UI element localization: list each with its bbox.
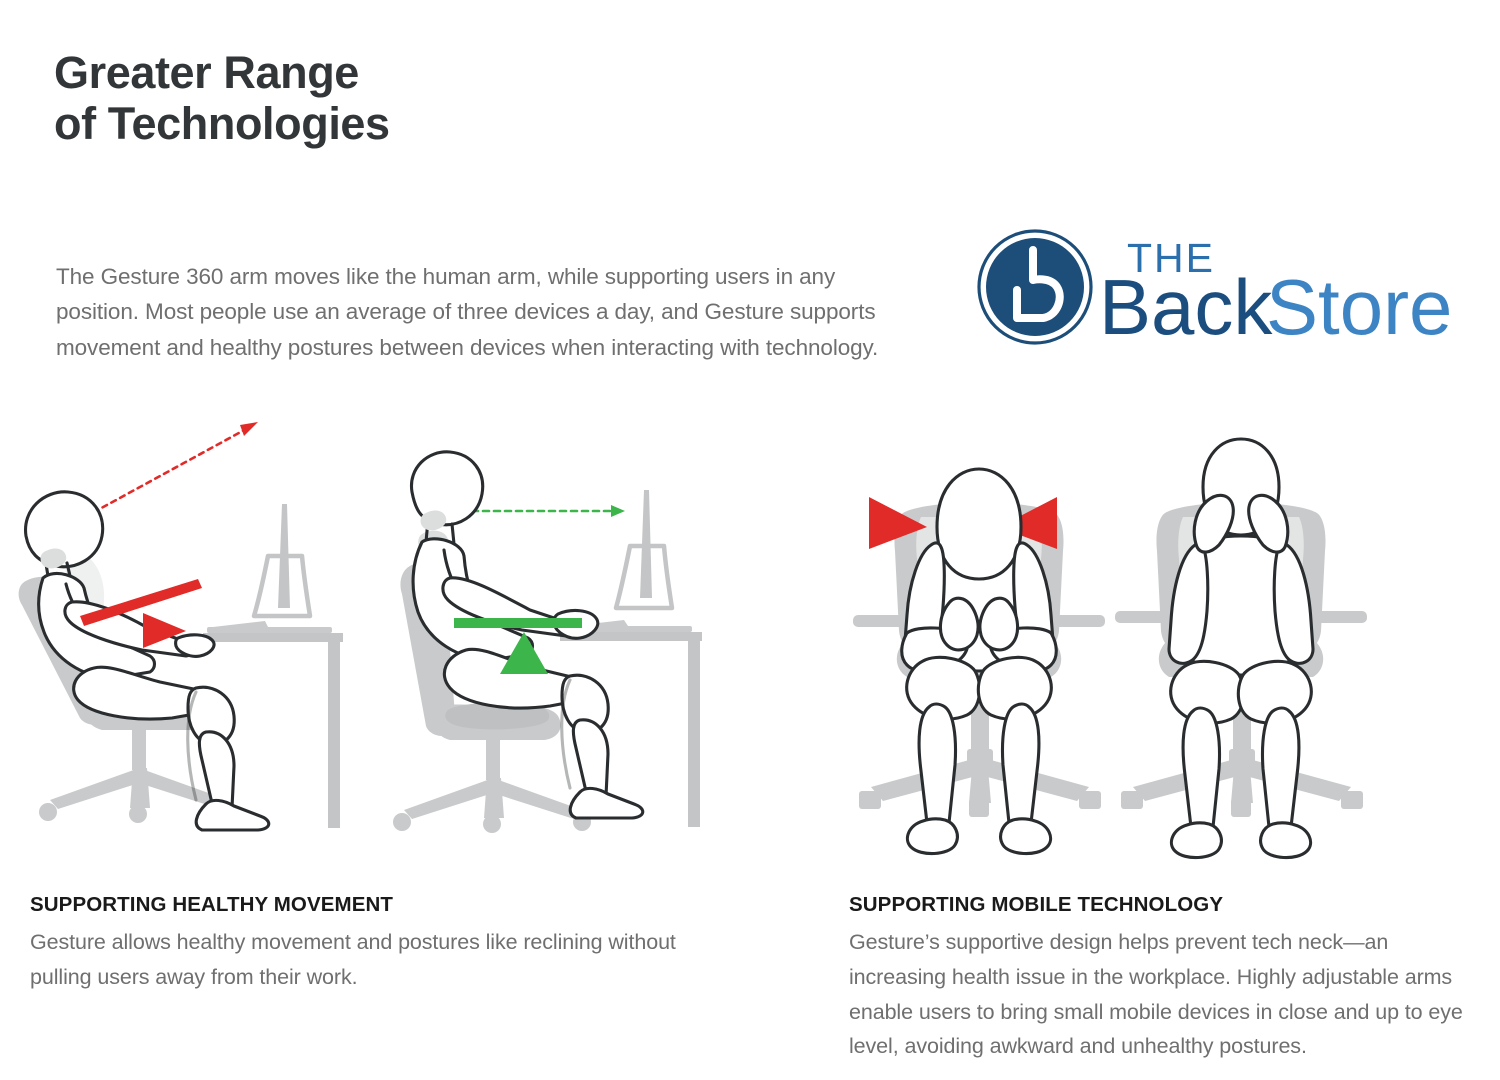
illustration-healthy-movement: .ol { fill:#ffffff; stroke:#2a2d2f; stro… — [10, 400, 720, 865]
figure-tech-neck — [853, 469, 1105, 854]
logo-circle-mark — [979, 231, 1091, 343]
caption-heading-left: SUPPORTING HEALTHY MOVEMENT — [30, 893, 690, 917]
caption-mobile-technology: SUPPORTING MOBILE TECHNOLOGY Gesture’s s… — [849, 893, 1479, 1064]
infographic-page: Greater Range of Technologies The Gestur… — [0, 0, 1500, 1080]
page-title: Greater Range of Technologies — [54, 48, 754, 150]
caption-body-right: Gesture’s supportive design helps preven… — [849, 925, 1479, 1064]
figure-reclined — [19, 422, 343, 830]
logo-back: Back — [1099, 263, 1273, 348]
intro-paragraph: The Gesture 360 arm moves like the human… — [56, 259, 896, 366]
caption-heading-right: SUPPORTING MOBILE TECHNOLOGY — [849, 893, 1479, 917]
brand-logo[interactable]: THE Back Store — [975, 228, 1475, 348]
figure-eye-level — [1115, 439, 1367, 858]
illustration-mobile-technology: .fol { fill:#ffffff; stroke:#2a2d2f; str… — [835, 435, 1435, 865]
green-dashed-gaze-arrow — [472, 505, 625, 517]
caption-body-left: Gesture allows healthy movement and post… — [30, 925, 690, 995]
caption-healthy-movement: SUPPORTING HEALTHY MOVEMENT Gesture allo… — [30, 893, 690, 995]
red-dashed-gaze-arrow — [85, 422, 258, 517]
logo-store: Store — [1266, 263, 1452, 348]
figure-upright — [393, 452, 702, 833]
